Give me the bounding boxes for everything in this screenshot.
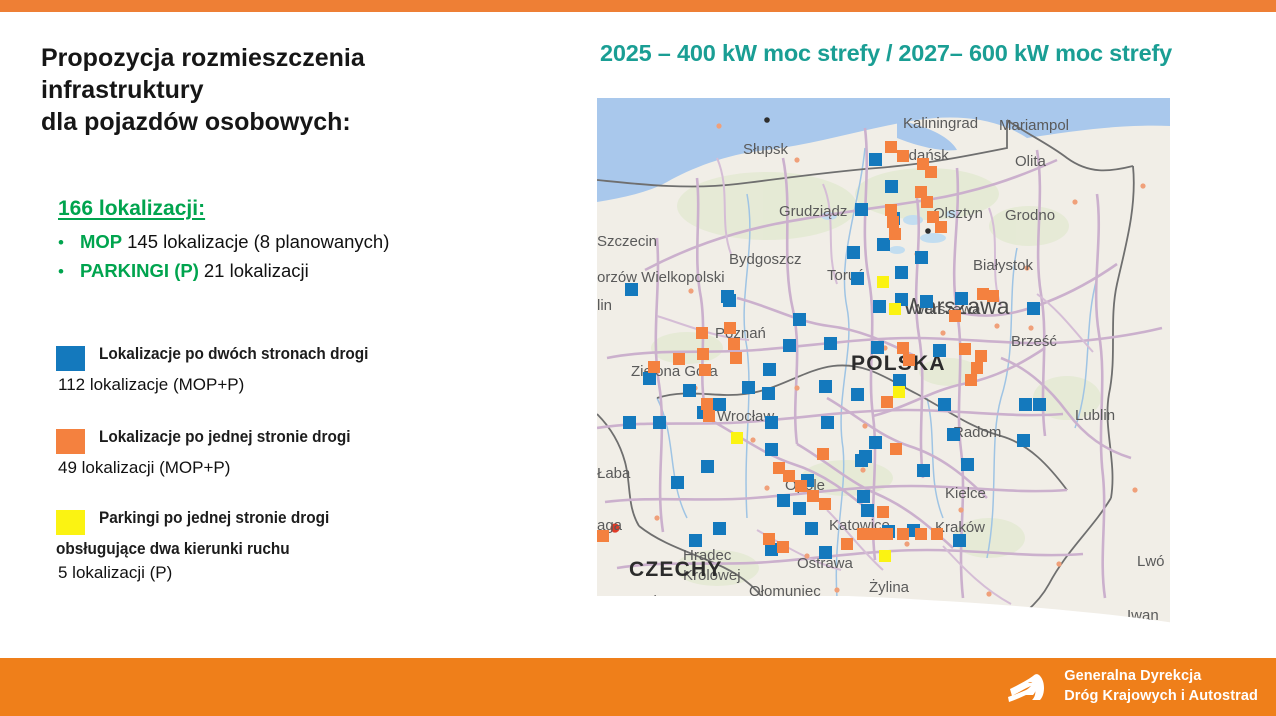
map-title-separator: / [880, 40, 898, 66]
map-title-right: 2027– 600 kW moc strefy [898, 40, 1172, 66]
locations-bullet-list: • MOP145 lokalizacje (8 planowanych) • P… [58, 228, 558, 285]
list-item-emphasis: PARKINGI (P) [80, 260, 199, 281]
footer-swoosh-decoration [0, 596, 1276, 658]
svg-text:Radom: Radom [953, 424, 1001, 441]
legend-item-count: 49 lokalizacji (MOP+P) [56, 458, 556, 478]
legend-item-one-sided: Lokalizacje po jednej stronie drogi 49 l… [56, 427, 556, 478]
svg-text:Łaba: Łaba [597, 465, 631, 482]
list-item-text: 145 lokalizacje (8 planowanych) [127, 231, 389, 252]
svg-text:CZECHY: CZECHY [629, 558, 723, 581]
gddkia-logo-icon [1006, 667, 1052, 707]
footer-logo-text: Generalna Dyrekcja Dróg Krajowych i Auto… [1064, 667, 1258, 706]
map-legend: Lokalizacje po dwóch stronach drogi 112 … [56, 344, 556, 599]
legend-item-label: Lokalizacje po jednej stronie drogi [99, 427, 351, 447]
legend-item-label: Lokalizacje po dwóch stronach drogi [99, 344, 368, 364]
bullet-dot-icon: • [58, 230, 80, 256]
list-item: • MOP145 lokalizacje (8 planowanych) [58, 228, 558, 257]
list-item-emphasis: MOP [80, 231, 122, 252]
page-title-line-1: Propozycja rozmieszczenia [41, 42, 541, 74]
slide-root: Propozycja rozmieszczenia infrastruktury… [0, 0, 1276, 716]
svg-text:orzów Wielkopolski: orzów Wielkopolski [597, 269, 725, 286]
legend-item-label-line2: obsługujące dwa kierunki ruchu [56, 539, 521, 559]
svg-text:Bydgoszcz: Bydgoszcz [729, 251, 802, 268]
footer-logo-line-1: Generalna Dyrekcja [1064, 667, 1258, 687]
page-title-line-2: infrastruktury [41, 74, 541, 106]
svg-text:POLSKA: POLSKA [851, 352, 946, 375]
legend-item-parking: Parkingi po jednej stronie drogi obsługu… [56, 508, 556, 583]
svg-text:Kaliningrad: Kaliningrad [903, 115, 978, 132]
legend-item-count: 112 lokalizacje (MOP+P) [56, 375, 556, 395]
top-accent-bar [0, 0, 1276, 12]
legend-swatch-yellow-icon [56, 510, 85, 535]
svg-text:Słupsk: Słupsk [743, 141, 789, 158]
svg-text:Mariampol: Mariampol [999, 117, 1069, 134]
legend-item-two-sided: Lokalizacje po dwóch stronach drogi 112 … [56, 344, 556, 395]
svg-text:Białystok: Białystok [973, 257, 1034, 274]
list-item-text: 21 lokalizacji [204, 260, 309, 281]
svg-text:Grudziądz: Grudziądz [779, 203, 847, 220]
svg-text:Kielce: Kielce [945, 485, 986, 502]
page-title-line-3: dla pojazdów osobowych: [41, 106, 541, 138]
svg-text:Szczecin: Szczecin [597, 233, 657, 250]
bullet-dot-icon: • [58, 259, 80, 285]
svg-text:lin: lin [597, 297, 612, 314]
footer-branding: Generalna Dyrekcja Dróg Krajowych i Auto… [1006, 667, 1258, 707]
legend-swatch-blue-icon [56, 346, 85, 371]
map-title: 2025 – 400 kW moc strefy/2027– 600 kW mo… [600, 40, 1268, 67]
page-title: Propozycja rozmieszczenia infrastruktury… [41, 42, 541, 138]
svg-text:Brześć: Brześć [1011, 333, 1057, 350]
svg-text:Olsztyn: Olsztyn [933, 205, 983, 222]
footer-logo-line-2: Dróg Krajowych i Autostrad [1064, 687, 1258, 707]
legend-swatch-orange-icon [56, 429, 85, 454]
poland-charging-map[interactable]: .lbl{font-family:"Liberation Sans",sans-… [597, 98, 1170, 636]
legend-item-count: 5 lokalizacji (P) [56, 563, 556, 583]
svg-text:Poznań: Poznań [715, 325, 766, 342]
svg-text:Grodno: Grodno [1005, 207, 1055, 224]
legend-item-label: Parkingi po jednej stronie drogi [99, 508, 329, 528]
svg-text:Lublin: Lublin [1075, 407, 1115, 424]
svg-text:Olita: Olita [1015, 153, 1047, 170]
svg-text:Żylina: Żylina [869, 578, 910, 596]
svg-text:Lwó: Lwó [1137, 553, 1165, 570]
map-title-left: 2025 – 400 kW moc strefy [600, 40, 880, 66]
locations-heading: 166 lokalizacji: [58, 197, 205, 221]
list-item: • PARKINGI (P)21 lokalizacji [58, 257, 558, 286]
